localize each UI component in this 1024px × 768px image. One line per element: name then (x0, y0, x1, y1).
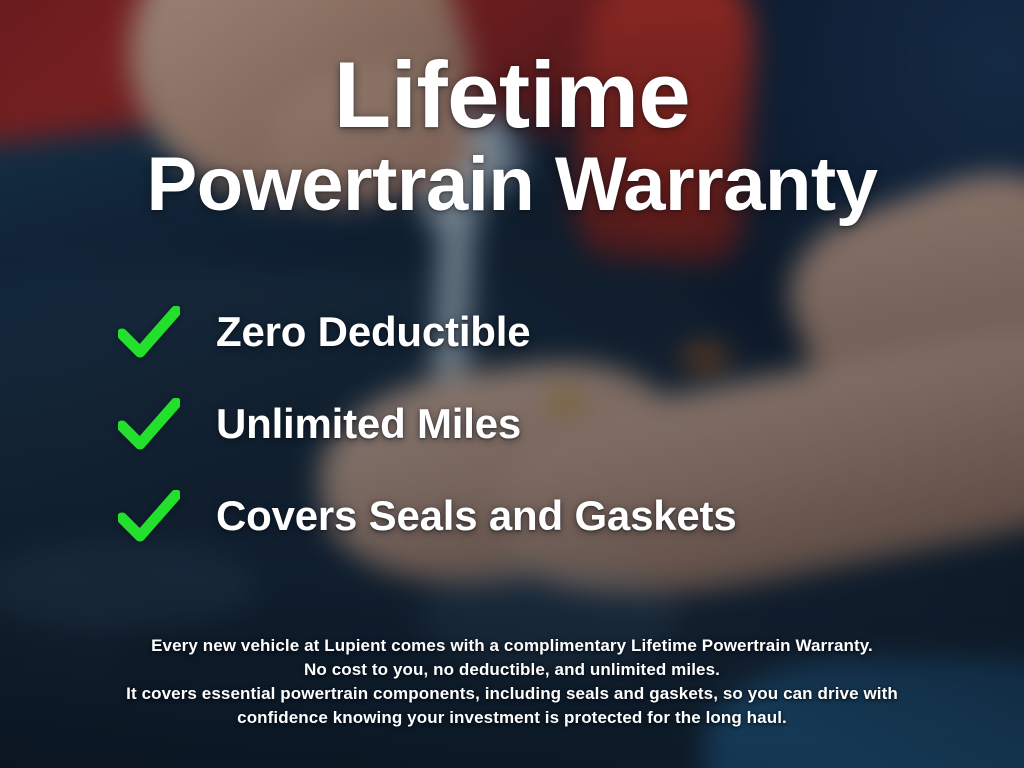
disclaimer-line-2: No cost to you, no deductible, and unlim… (70, 658, 954, 682)
disclaimer-line-1: Every new vehicle at Lupient comes with … (70, 634, 954, 658)
lifetime-powertrain-warranty-banner: Lifetime Powertrain Warranty Zero Deduct… (0, 0, 1024, 768)
check-icon (118, 306, 216, 358)
disclaimer-text: Every new vehicle at Lupient comes with … (0, 634, 1024, 731)
disclaimer-line-3: It covers essential powertrain component… (70, 682, 954, 706)
benefits-list: Zero Deductible Unlimited Miles Covers S… (118, 286, 958, 562)
page-title: Lifetime Powertrain Warranty (0, 48, 1024, 222)
check-icon (118, 398, 216, 450)
benefit-label: Zero Deductible (216, 308, 530, 356)
list-item: Zero Deductible (118, 286, 958, 378)
check-icon (118, 490, 216, 542)
banner-content: Lifetime Powertrain Warranty Zero Deduct… (0, 0, 1024, 768)
list-item: Unlimited Miles (118, 378, 958, 470)
benefit-label: Covers Seals and Gaskets (216, 492, 737, 540)
disclaimer-line-4: confidence knowing your investment is pr… (70, 706, 954, 730)
headline-line-2: Powertrain Warranty (0, 147, 1024, 222)
benefit-label: Unlimited Miles (216, 400, 521, 448)
list-item: Covers Seals and Gaskets (118, 470, 958, 562)
headline-line-1: Lifetime (0, 48, 1024, 141)
